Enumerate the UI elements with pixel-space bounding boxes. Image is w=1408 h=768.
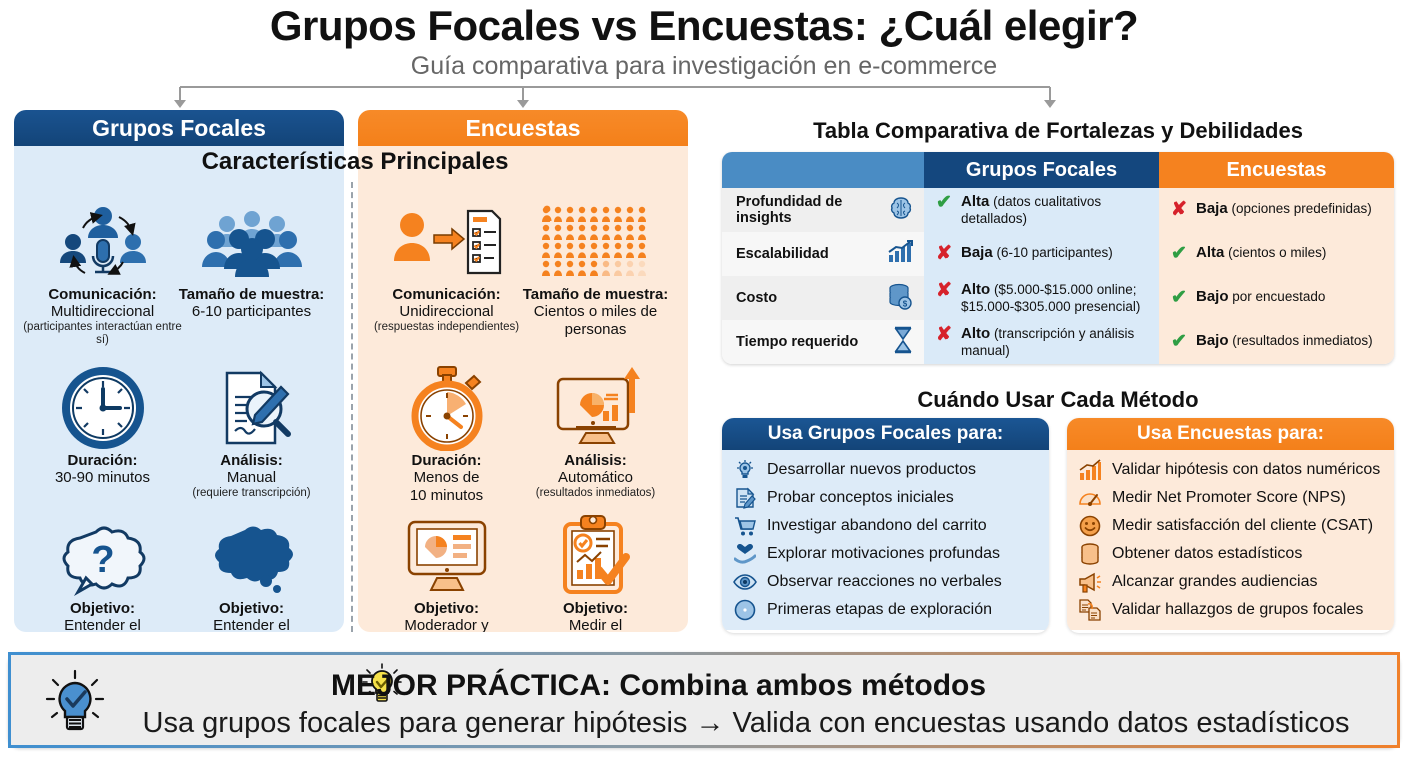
table-row: Costo $: [722, 276, 1394, 320]
cross-icon: ✘: [934, 244, 954, 264]
feature-duration-sv: Duración: Menos de 10 minutos: [364, 364, 529, 505]
table-row: Escalabilidad ✘ Baja (6-10 pa: [722, 232, 1394, 276]
monitor-analytics-icon: [513, 364, 678, 452]
smiley-face-icon: [1077, 514, 1103, 538]
feature-sub: (resultados inmediatos): [513, 487, 678, 500]
feature-objective-fg-1: ? Objetivo: Entender el "POR QUÉ": [20, 512, 185, 632]
list-item: Probar conceptos iniciales: [732, 484, 1041, 512]
thought-bubble-icon: [169, 512, 334, 600]
list-item-label: Medir Net Promoter Score (NPS): [1112, 489, 1346, 507]
documents-sync-icon: [1077, 598, 1103, 622]
feature-label: Objetivo:: [169, 600, 334, 617]
feature-value: Manual: [169, 469, 334, 487]
row-focus-groups-cell: ✘ Baja (6-10 participantes): [924, 232, 1159, 276]
feature-communication-sv: Comunicación: Unidireccional (respuestas…: [364, 198, 529, 334]
feature-label: Objetivo:: [364, 600, 529, 617]
feature-sample-size-sv: Tamaño de muestra: Cientos o miles de pe…: [513, 198, 678, 339]
dashboard-monitor-icon: [364, 512, 529, 600]
clock-icon: [20, 364, 185, 452]
best-practice-banner: MEJOR PRÁCTICA: Combina ambos métodos Us…: [8, 652, 1400, 748]
row-sv-text: Bajo (resultados inmediatos): [1196, 332, 1373, 350]
clipboard-check-chart-icon: [513, 512, 678, 600]
row-sv-text: Alta (cientos o miles): [1196, 244, 1326, 262]
feature-value: Entender el "POR QUÉ": [169, 617, 334, 632]
row-criterion: Escalabilidad: [722, 232, 924, 276]
feature-sub: (respuestas independientes): [364, 321, 529, 334]
feature-label: Comunicación:: [20, 286, 185, 303]
database-icon: [1077, 542, 1103, 566]
usage-box-focus-groups: Usa Grupos Focales para: Desarrollar nue…: [722, 418, 1049, 633]
row-focus-groups-cell: ✔ Alta (datos cualitativos detallados): [924, 188, 1159, 232]
row-criterion: Profundidad de insights: [722, 188, 924, 232]
blue-lightbulb-check-icon: [39, 669, 111, 746]
check-icon: ✔: [934, 193, 954, 213]
check-icon: ✔: [1169, 244, 1189, 264]
stopwatch-icon: [364, 364, 529, 452]
list-item-label: Explorar motivaciones profundas: [767, 545, 1000, 563]
crowd-grid-icon: [513, 198, 678, 286]
svg-text:?: ?: [91, 539, 114, 581]
row-criterion-label: Profundidad de insights: [736, 194, 882, 226]
comparison-table-title: Tabla Comparativa de Fortalezas y Debili…: [722, 118, 1394, 144]
cross-icon: ✘: [1169, 200, 1189, 220]
panel-surveys: Encuestas: [358, 110, 688, 632]
row-sv-text: Bajo por encuestado: [1196, 288, 1325, 306]
row-surveys-cell: ✘ Baja (opciones predefinidas): [1159, 188, 1394, 232]
feature-label: Análisis:: [513, 452, 678, 469]
feature-value: 6-10 participantes: [169, 303, 334, 321]
row-fg-text: Alta (datos cualitativos detallados): [961, 193, 1151, 227]
brain-icon: [888, 195, 914, 225]
list-item-label: Investigar abandono del carrito: [767, 517, 987, 535]
list-item: Observar reacciones no verbales: [732, 568, 1041, 596]
feature-label: Tamaño de muestra:: [513, 286, 678, 303]
table-header-row: Grupos Focales Encuestas: [722, 152, 1394, 188]
row-fg-text: Baja (6-10 participantes): [961, 244, 1113, 262]
bar-chart-growth-icon: [1077, 458, 1103, 482]
row-surveys-cell: ✔ Alta (cientos o miles): [1159, 232, 1394, 276]
feature-analysis-fg: Análisis: Manual (requiere transcripción…: [169, 364, 334, 500]
row-criterion: Costo $: [722, 276, 924, 320]
row-surveys-cell: ✔ Bajo por encuestado: [1159, 276, 1394, 320]
usage-box-surveys-header: Usa Encuestas para:: [1067, 418, 1394, 450]
hourglass-icon: [892, 326, 914, 358]
row-sv-text: Baja (opciones predefinidas): [1196, 200, 1372, 218]
panel-focus-groups: Grupos Focales: [14, 110, 344, 632]
comparison-table: Grupos Focales Encuestas Profundidad de …: [722, 152, 1394, 364]
feature-value: Automático: [513, 469, 678, 487]
gauge-icon: [1077, 486, 1103, 510]
list-item: Medir Net Promoter Score (NPS): [1077, 484, 1386, 512]
list-item: Alcanzar grandes audiencias: [1077, 568, 1386, 596]
table-row: Tiempo requerido ✘ Alto (tran: [722, 320, 1394, 364]
row-criterion: Tiempo requerido: [722, 320, 924, 364]
table-row: Profundidad de insights: [722, 188, 1394, 232]
banner-detail: Usa grupos focales para generar hipótesi…: [111, 707, 1381, 740]
list-item: Validar hallazgos de grupos focales: [1077, 596, 1386, 624]
list-item-label: Observar reacciones no verbales: [767, 573, 1002, 591]
table-header-blank: [722, 152, 924, 188]
feature-objective-sv-2: Objetivo: Medir el "QUÉ": [513, 512, 678, 632]
feature-value: Multidireccional: [20, 303, 185, 321]
list-item-label: Alcanzar grandes audiencias: [1112, 573, 1317, 591]
panel-divider: [351, 182, 353, 632]
row-criterion-label: Costo: [736, 290, 777, 306]
coins-dollar-icon: $: [886, 282, 914, 314]
group-of-people-icon: [169, 198, 334, 286]
panel-focus-groups-header: Grupos Focales: [14, 110, 344, 146]
feature-sub: (requiere transcripción): [169, 487, 334, 500]
feature-analysis-sv: Análisis: Automático (resultados inmedia…: [513, 364, 678, 500]
svg-text:$: $: [903, 300, 908, 309]
usage-box-focus-groups-header: Usa Grupos Focales para:: [722, 418, 1049, 450]
row-surveys-cell: ✔ Bajo (resultados inmediatos): [1159, 320, 1394, 364]
list-item-label: Obtener datos estadísticos: [1112, 545, 1302, 563]
list-item: Explorar motivaciones profundas: [732, 540, 1041, 568]
check-icon: ✔: [1169, 332, 1189, 352]
feature-label: Duración:: [364, 452, 529, 469]
list-item-label: Medir satisfacción del cliente (CSAT): [1112, 517, 1373, 535]
cross-icon: ✘: [934, 281, 954, 301]
row-fg-text: Alto (transcripción y análisis manual): [961, 325, 1151, 359]
heart-hand-icon: [732, 542, 758, 566]
list-item: Desarrollar nuevos productos: [732, 456, 1041, 484]
document-magnifier-pen-icon: [169, 364, 334, 452]
banner-headline: MEJOR PRÁCTICA: Combina ambos métodos: [331, 669, 1331, 703]
feature-duration-fg: Duración: 30-90 minutos: [20, 364, 185, 487]
list-item-label: Desarrollar nuevos productos: [767, 461, 976, 479]
feature-objective-fg-2: Objetivo: Entender el "POR QUÉ": [169, 512, 334, 632]
feature-value: 30-90 minutos: [20, 469, 185, 487]
feature-sub: (participantes interactúan entre sí): [20, 321, 185, 347]
compass-icon: [732, 598, 758, 622]
feature-value: Entender el "POR QUÉ": [20, 617, 185, 632]
feature-label: Tamaño de muestra:: [169, 286, 334, 303]
megaphone-icon: [1077, 570, 1103, 594]
page-subtitle: Guía comparativa para investigación en e…: [0, 52, 1408, 81]
usage-section-title: Cuándo Usar Cada Método: [722, 387, 1394, 413]
eye-icon: [732, 570, 758, 594]
check-icon: ✔: [1169, 288, 1189, 308]
feature-value: Menos de 10 minutos: [364, 469, 529, 504]
usage-box-surveys: Usa Encuestas para: Validar hipótesis co…: [1067, 418, 1394, 633]
note-pencil-icon: [732, 486, 758, 510]
row-criterion-label: Escalabilidad: [736, 246, 829, 262]
feature-value: Moderador y dinámicas grupales: [364, 617, 529, 632]
feature-value: Cientos o miles de personas: [513, 303, 678, 338]
list-item: Investigar abandono del carrito: [732, 512, 1041, 540]
row-fg-text: Alto ($5.000-$15.000 online; $15.000-$30…: [961, 281, 1151, 315]
list-item-label: Validar hipótesis con datos numéricos: [1112, 461, 1380, 479]
row-criterion-label: Tiempo requerido: [736, 334, 858, 350]
list-item-label: Probar conceptos iniciales: [767, 489, 954, 507]
list-item: Primeras etapas de exploración: [732, 596, 1041, 624]
list-item: Validar hipótesis con datos numéricos: [1077, 456, 1386, 484]
list-item: Medir satisfacción del cliente (CSAT): [1077, 512, 1386, 540]
growth-chart-icon: [886, 239, 914, 269]
feature-label: Objetivo:: [513, 600, 678, 617]
section-title-main-characteristics: Características Principales: [0, 148, 710, 176]
lightbulb-idea-icon: [732, 458, 758, 482]
cross-icon: ✘: [934, 325, 954, 345]
shopping-cart-icon: [732, 514, 758, 538]
multidirectional-communication-icon: [20, 198, 185, 286]
feature-value: Unidireccional: [364, 303, 529, 321]
page-title: Grupos Focales vs Encuestas: ¿Cuál elegi…: [0, 2, 1408, 50]
table-header-surveys: Encuestas: [1159, 152, 1394, 188]
feature-communication-fg: Comunicación: Multidireccional (particip…: [20, 198, 185, 347]
row-focus-groups-cell: ✘ Alto ($5.000-$15.000 online; $15.000-$…: [924, 276, 1159, 320]
feature-label: Objetivo:: [20, 600, 185, 617]
question-speech-bubble-icon: ?: [20, 512, 185, 600]
table-header-focus-groups: Grupos Focales: [924, 152, 1159, 188]
feature-label: Duración:: [20, 452, 185, 469]
row-focus-groups-cell: ✘ Alto (transcripción y análisis manual): [924, 320, 1159, 364]
person-to-form-icon: [364, 198, 529, 286]
connector-arrows: [0, 85, 1408, 110]
list-item: Obtener datos estadísticos: [1077, 540, 1386, 568]
feature-label: Comunicación:: [364, 286, 529, 303]
feature-value: Medir el "QUÉ": [513, 617, 678, 632]
feature-sample-size-fg: Tamaño de muestra: 6-10 participantes: [169, 198, 334, 321]
list-item-label: Validar hallazgos de grupos focales: [1112, 601, 1363, 619]
panel-surveys-header: Encuestas: [358, 110, 688, 146]
feature-objective-sv-1: Objetivo: Moderador y dinámicas grupales: [364, 512, 529, 632]
list-item-label: Primeras etapas de exploración: [767, 601, 992, 619]
feature-label: Análisis:: [169, 452, 334, 469]
